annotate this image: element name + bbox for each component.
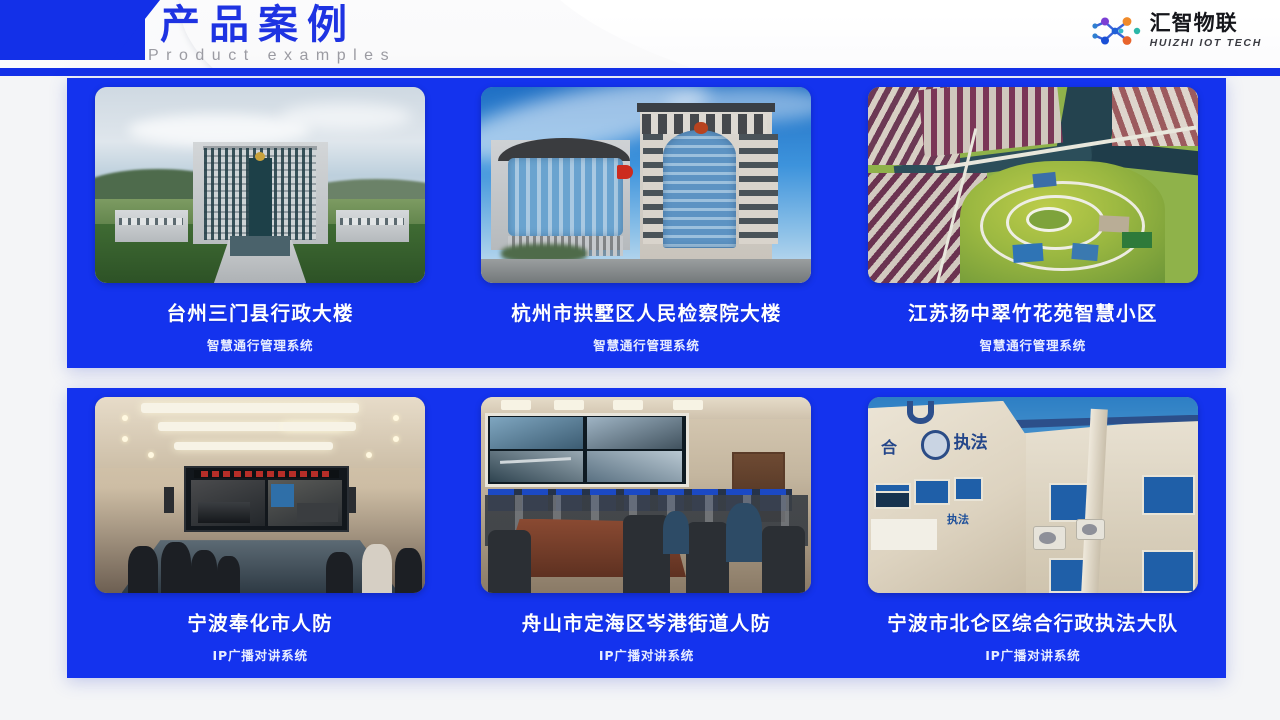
case-subtitle: IP广播对讲系统 [599,645,694,664]
procuratorate-building-photo [481,87,811,283]
case-title: 舟山市定海区岑港街道人防 [522,607,772,636]
logo-name-zh: 汇智物联 [1150,13,1262,34]
case-subtitle: 智慧通行管理系统 [207,335,313,354]
brand-logo: 汇智物联 HUIZHI IOT TECH [1091,12,1262,50]
case-subtitle: IP广播对讲系统 [213,645,308,664]
case-card-list-2: 宁波奉化市人防 IP广播对讲系统 [67,388,1226,678]
government-building-photo [95,87,425,283]
case-subtitle: IP广播对讲系统 [985,645,1080,664]
cases-panel-row-2: 宁波奉化市人防 IP广播对讲系统 [67,388,1226,678]
case-card[interactable]: 江苏扬中翠竹花苑智慧小区 智慧通行管理系统 [840,78,1226,368]
case-title: 江苏扬中翠竹花苑智慧小区 [908,297,1158,326]
case-title: 宁波奉化市人防 [187,607,333,636]
photo-sign-text: 合 [881,434,897,458]
case-subtitle: 智慧通行管理系统 [593,335,699,354]
case-card[interactable]: 舟山市定海区岑港街道人防 IP广播对讲系统 [453,388,839,678]
case-subtitle: 智慧通行管理系统 [980,335,1086,354]
case-title: 宁波市北仑区综合行政执法大队 [887,607,1178,636]
command-center-photo [481,397,811,593]
photo-sign-text: 执法 [947,511,969,527]
logo-text-block: 汇智物联 HUIZHI IOT TECH [1150,13,1262,49]
case-card[interactable]: 台州三门县行政大楼 智慧通行管理系统 [67,78,453,368]
header-accent-strip [0,68,1280,76]
conference-room-photo [95,397,425,593]
enforcement-building-photo: 合 执法 执法 [868,397,1198,593]
cases-panel-row-1: 台州三门县行政大楼 智慧通行管理系统 杭州市拱墅区人民检察院大楼 智慧通行管理系… [67,78,1226,368]
case-card[interactable]: 宁波奉化市人防 IP广播对讲系统 [67,388,453,678]
molecule-network-icon [1091,12,1143,50]
slide-header: 产品案例 Product examples 汇智物联 HUIZHI IOT TE… [0,0,1280,76]
case-title: 杭州市拱墅区人民检察院大楼 [511,297,781,326]
case-title: 台州三门县行政大楼 [167,297,354,326]
case-card[interactable]: 杭州市拱墅区人民检察院大楼 智慧通行管理系统 [453,78,839,368]
aerial-community-photo [868,87,1198,283]
page-title: 产品案例 [160,2,356,48]
logo-name-en: HUIZHI IOT TECH [1150,38,1262,49]
page-subtitle: Product examples [148,47,396,65]
case-card[interactable]: 合 执法 执法 宁波市北仑区综合行政执法大队 IP广播对讲系统 [840,388,1226,678]
case-card-list-1: 台州三门县行政大楼 智慧通行管理系统 杭州市拱墅区人民检察院大楼 智慧通行管理系… [67,78,1226,368]
photo-sign-text: 执法 [954,428,988,453]
